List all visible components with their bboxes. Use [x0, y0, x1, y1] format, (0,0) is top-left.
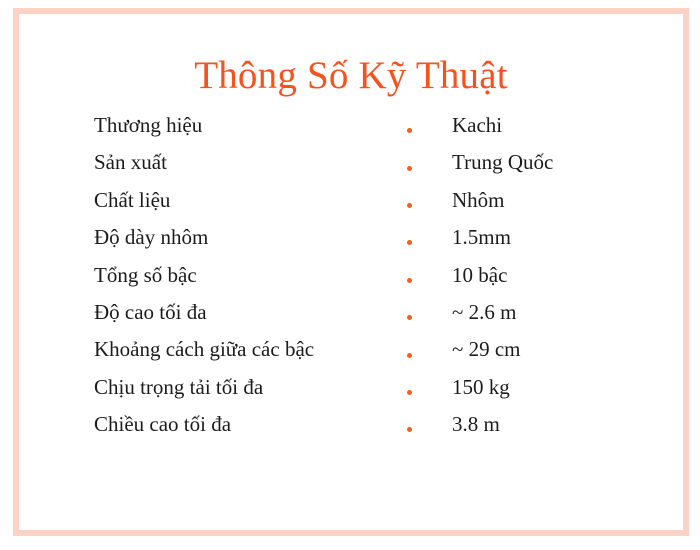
spec-value: Trung Quốc: [452, 149, 654, 175]
spec-bullet-cell: [407, 342, 452, 368]
spec-label: Chiều cao tối đa: [94, 411, 407, 437]
spec-label: Khoảng cách giữa các bậc: [94, 336, 407, 362]
bullet-dot-icon: [407, 278, 412, 283]
spec-row: Độ cao tối đa~ 2.6 m: [94, 299, 654, 336]
spec-value: 3.8 m: [452, 411, 654, 437]
bullet-dot-icon: [407, 166, 412, 171]
spec-row: Sản xuấtTrung Quốc: [94, 149, 654, 186]
bullet-dot-icon: [407, 128, 412, 133]
spec-bullet-cell: [407, 305, 452, 331]
spec-bullet-cell: [407, 379, 452, 405]
spec-label: Sản xuất: [94, 149, 407, 175]
spec-value: 150 kg: [452, 374, 654, 400]
bullet-dot-icon: [407, 315, 412, 320]
spec-label: Độ dày nhôm: [94, 224, 407, 250]
spec-value: ~ 29 cm: [452, 336, 654, 362]
spec-row: Chiều cao tối đa3.8 m: [94, 411, 654, 448]
spec-card: Thông Số Kỹ Thuật Thương hiệuKachiSản xu…: [13, 8, 689, 536]
spec-label: Chịu trọng tải tối đa: [94, 374, 407, 400]
spec-label: Thương hiệu: [94, 112, 407, 138]
spec-bullet-cell: [407, 118, 452, 144]
spec-row: Chất liệuNhôm: [94, 187, 654, 224]
spec-row: Chịu trọng tải tối đa150 kg: [94, 374, 654, 411]
specification-table: Thương hiệuKachiSản xuấtTrung QuốcChất l…: [94, 112, 654, 449]
spec-value: 10 bậc: [452, 262, 654, 288]
bullet-dot-icon: [407, 353, 412, 358]
bullet-dot-icon: [407, 240, 412, 245]
spec-value: ~ 2.6 m: [452, 299, 654, 325]
spec-bullet-cell: [407, 267, 452, 293]
spec-bullet-cell: [407, 417, 452, 443]
spec-row: Độ dày nhôm1.5mm: [94, 224, 654, 261]
spec-value: Kachi: [452, 112, 654, 138]
spec-value: Nhôm: [452, 187, 654, 213]
spec-row: Khoảng cách giữa các bậc~ 29 cm: [94, 336, 654, 373]
spec-row: Thương hiệuKachi: [94, 112, 654, 149]
bullet-dot-icon: [407, 427, 412, 432]
bullet-dot-icon: [407, 203, 412, 208]
spec-value: 1.5mm: [452, 224, 654, 250]
spec-row: Tổng số bậc10 bậc: [94, 262, 654, 299]
spec-label: Tổng số bậc: [94, 262, 407, 288]
page-title: Thông Số Kỹ Thuật: [19, 50, 683, 102]
spec-bullet-cell: [407, 192, 452, 218]
spec-bullet-cell: [407, 155, 452, 181]
spec-label: Độ cao tối đa: [94, 299, 407, 325]
spec-bullet-cell: [407, 230, 452, 256]
spec-label: Chất liệu: [94, 187, 407, 213]
bullet-dot-icon: [407, 390, 412, 395]
